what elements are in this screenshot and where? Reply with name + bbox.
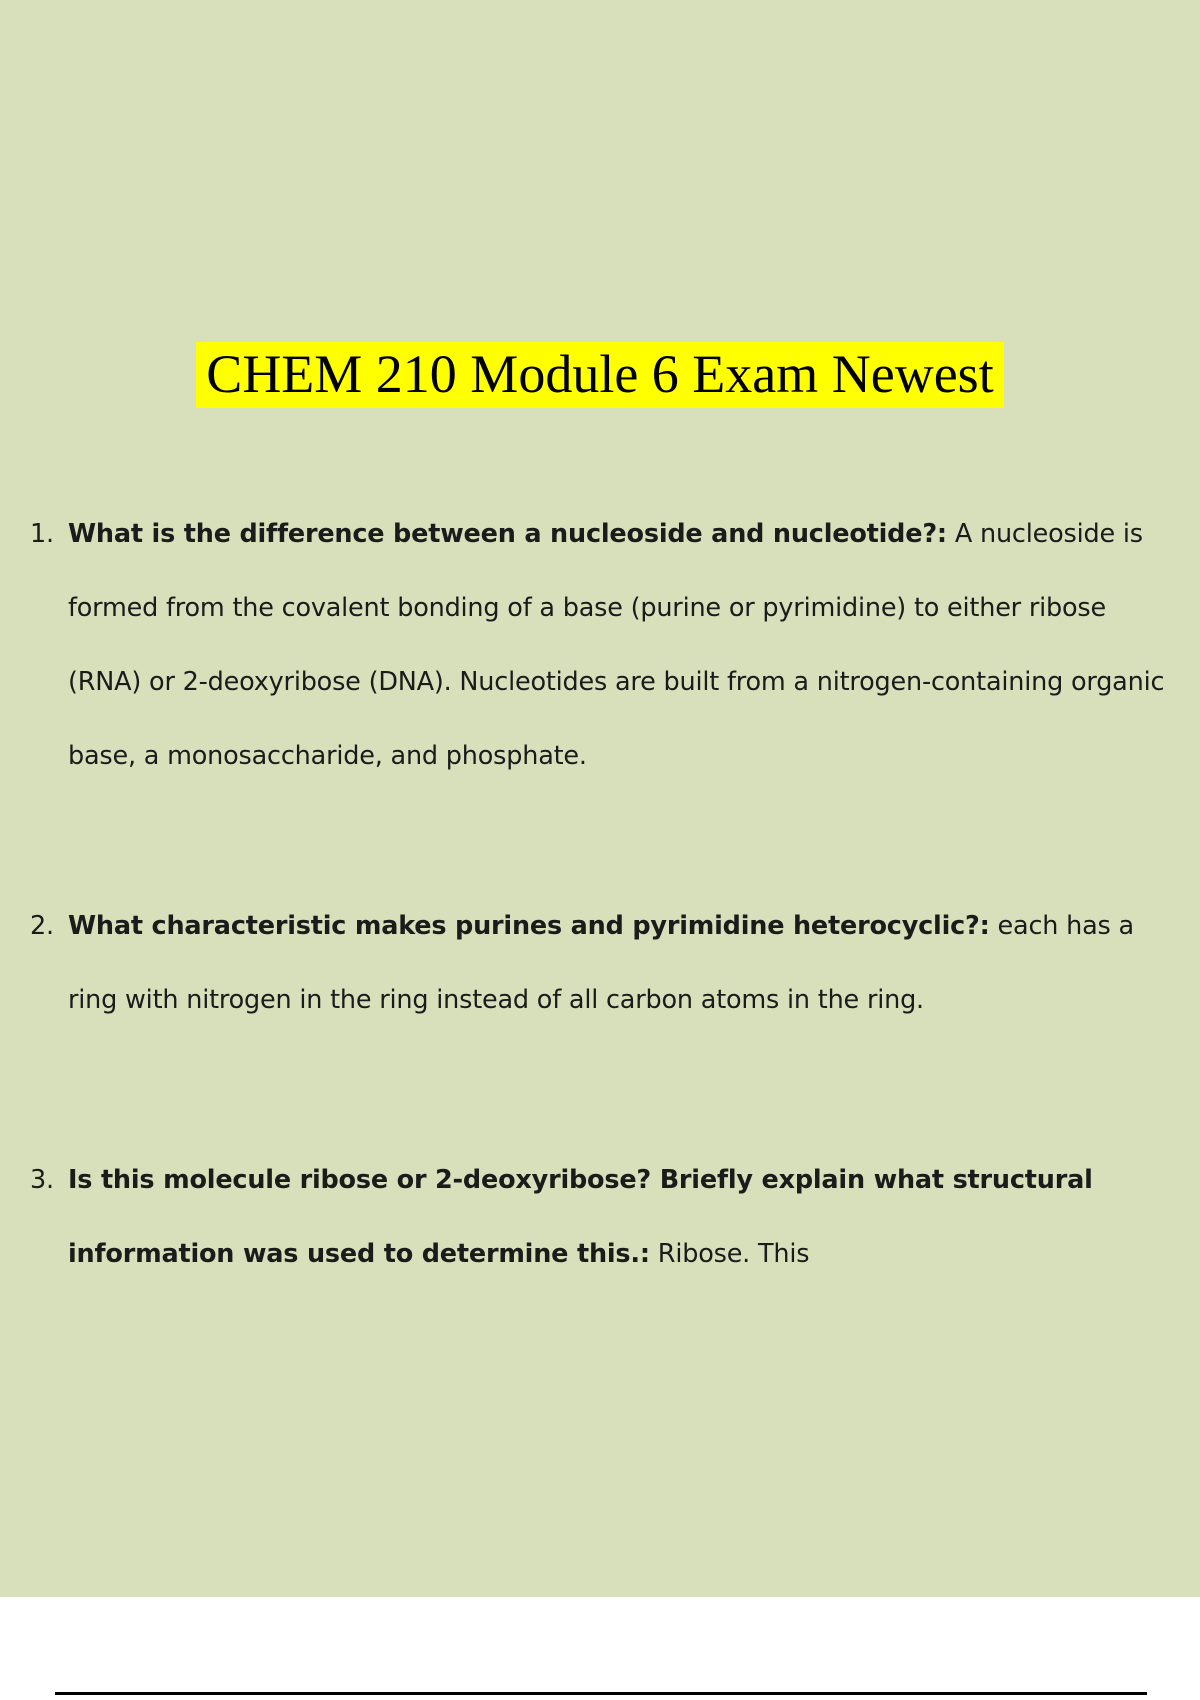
question-text: What characteristic makes purines and py… — [68, 911, 990, 941]
question-number: 1. — [30, 497, 54, 571]
question-list: 1.What is the difference between a nucle… — [30, 497, 1170, 1291]
question-spacer — [30, 793, 1170, 889]
document-page-content: CHEM 210 Module 6 Exam Newest 1.What is … — [30, 0, 1170, 1597]
footer-divider — [55, 1692, 1147, 1695]
list-item: 3.Is this molecule ribose or 2-deoxyribo… — [30, 1143, 1170, 1291]
question-text: What is the difference between a nucleos… — [68, 519, 947, 549]
answer-text: Ribose. This — [650, 1239, 809, 1269]
question-text: Is this molecule ribose or 2-deoxyribose… — [68, 1165, 1093, 1269]
list-item: 2.What characteristic makes purines and … — [30, 889, 1170, 1037]
question-spacer — [30, 1037, 1170, 1143]
list-item: 1.What is the difference between a nucle… — [30, 497, 1170, 793]
document-page: CHEM 210 Module 6 Exam Newest 1.What is … — [0, 0, 1200, 1597]
question-number: 3. — [30, 1143, 54, 1217]
question-number: 2. — [30, 889, 54, 963]
page-title: CHEM 210 Module 6 Exam Newest — [85, 336, 1115, 413]
page-title-highlight: CHEM 210 Module 6 Exam Newest — [196, 342, 1003, 408]
answer-text: A nucleoside is formed from the covalent… — [68, 519, 1164, 771]
